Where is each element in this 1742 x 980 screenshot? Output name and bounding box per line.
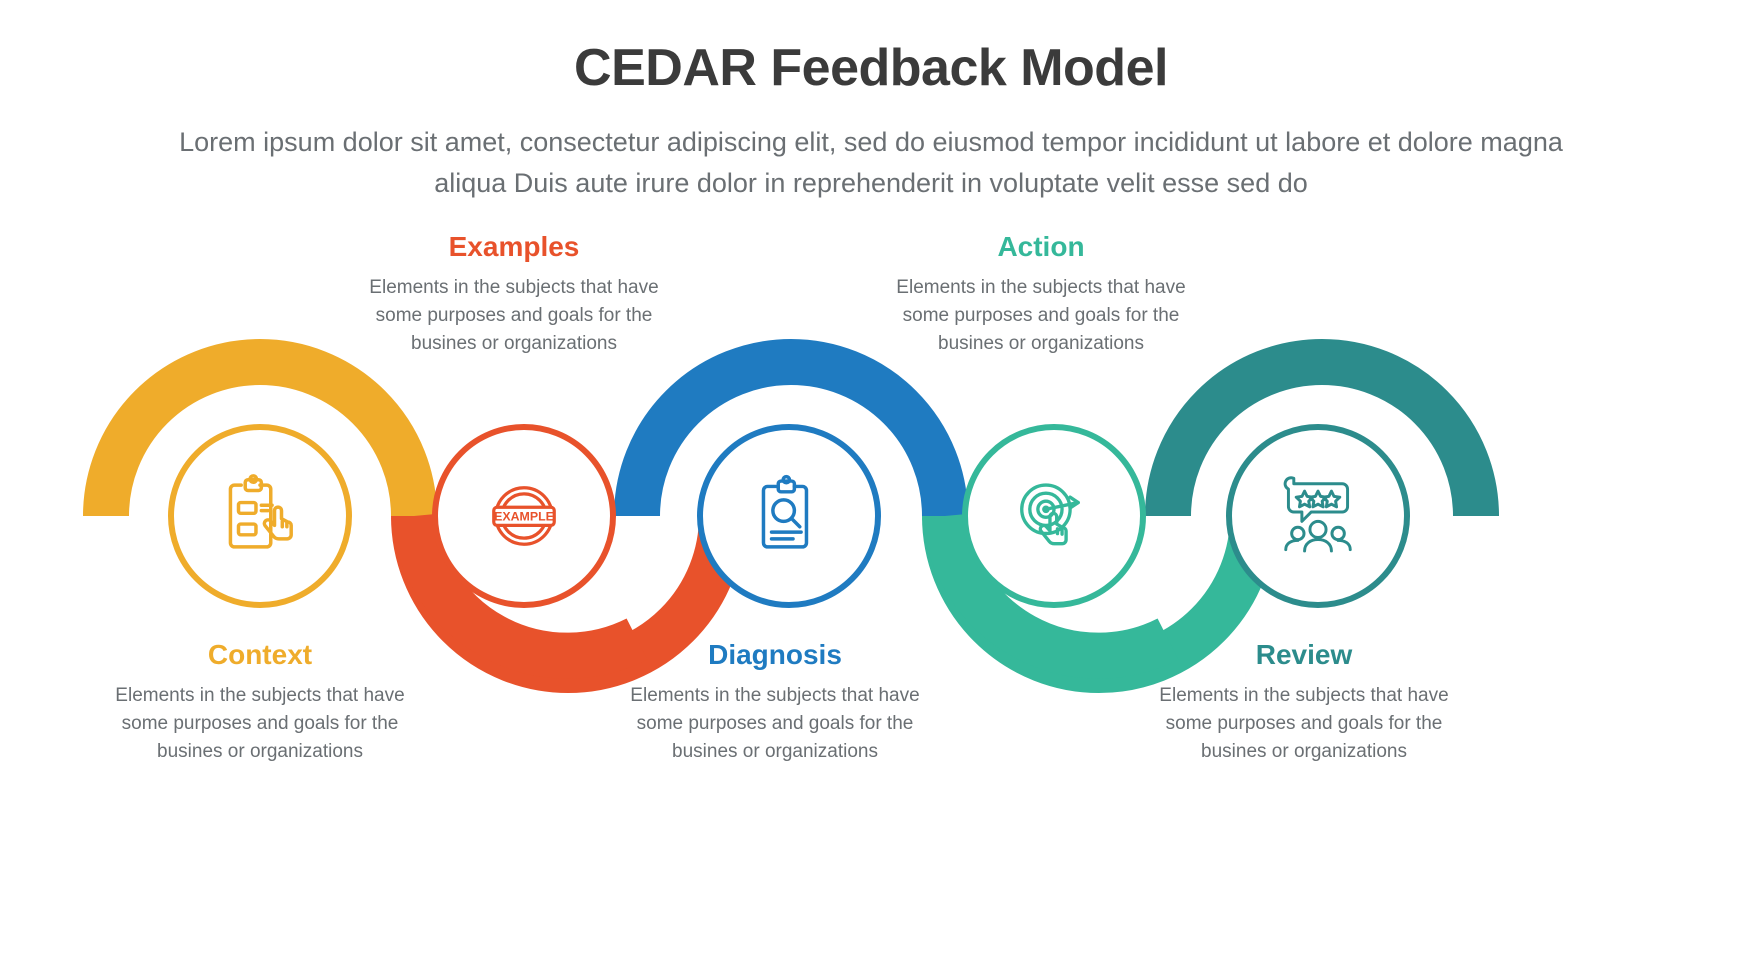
step-block-action: Action Elements in the subjects that hav…	[891, 232, 1191, 358]
clipboard-hand-icon	[217, 473, 303, 559]
clipboard-magnifier-icon	[746, 473, 832, 559]
target-hand-icon	[1011, 473, 1097, 559]
infographic-canvas: CEDAR Feedback Model Lorem ipsum dolor s…	[0, 0, 1742, 980]
step-block-review: Review Elements in the subjects that hav…	[1154, 640, 1454, 766]
page-title: CEDAR Feedback Model	[0, 38, 1742, 98]
page-subtitle: Lorem ipsum dolor sit amet, consectetur …	[161, 122, 1581, 204]
node-review[interactable]	[1226, 424, 1410, 608]
node-examples[interactable]: EXAMPLE	[432, 424, 616, 608]
step-label-context: Context	[110, 640, 410, 671]
step-description-action: Elements in the subjects that have some …	[891, 274, 1191, 358]
step-description-examples: Elements in the subjects that have some …	[364, 274, 664, 358]
step-label-action: Action	[891, 232, 1191, 263]
node-action[interactable]	[962, 424, 1146, 608]
step-description-review: Elements in the subjects that have some …	[1154, 682, 1454, 766]
step-label-diagnosis: Diagnosis	[625, 640, 925, 671]
star-rating-people-icon	[1275, 473, 1361, 559]
step-description-diagnosis: Elements in the subjects that have some …	[625, 682, 925, 766]
step-block-context: Context Elements in the subjects that ha…	[110, 640, 410, 766]
step-description-context: Elements in the subjects that have some …	[110, 682, 410, 766]
step-label-examples: Examples	[364, 232, 664, 263]
example-stamp-icon: EXAMPLE	[481, 473, 567, 559]
node-diagnosis[interactable]	[697, 424, 881, 608]
node-context[interactable]	[168, 424, 352, 608]
step-block-diagnosis: Diagnosis Elements in the subjects that …	[625, 640, 925, 766]
step-block-examples: Examples Elements in the subjects that h…	[364, 232, 664, 358]
step-label-review: Review	[1154, 640, 1454, 671]
stamp-text: EXAMPLE	[494, 509, 554, 523]
